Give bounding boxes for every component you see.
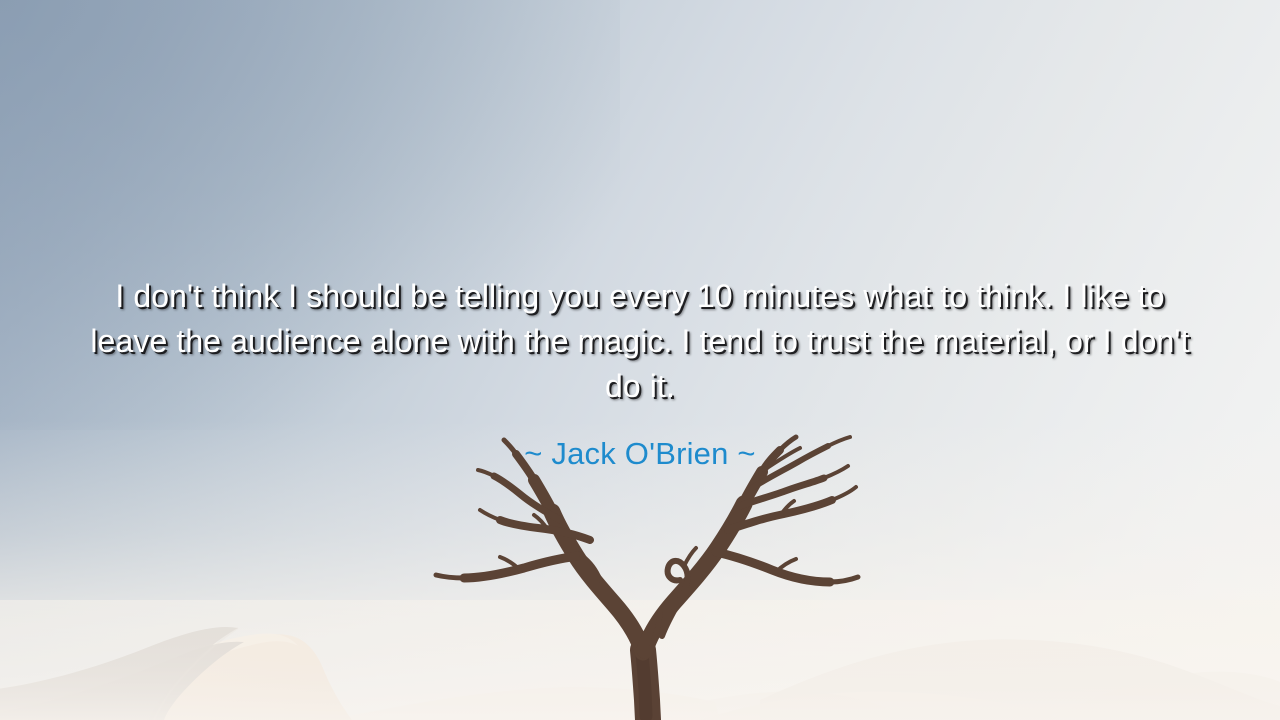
quote-image-canvas: I don't think I should be telling you ev… <box>0 0 1280 720</box>
tree-branch-center-curl-tip <box>684 548 696 566</box>
author-container: ~ Jack O'Brien ~ <box>0 434 1280 474</box>
tree-branch-left-mid-tip <box>480 510 500 520</box>
quote-container: I don't think I should be telling you ev… <box>0 274 1280 409</box>
tree-trunk-shade <box>642 654 646 716</box>
tree-branches <box>436 437 858 720</box>
tree-branch-right-mid-tip <box>832 487 856 500</box>
tree-branch-right-lower-tip <box>830 577 858 582</box>
tree-branch-right-lower <box>716 552 830 582</box>
tree-branch-left-lower-tip <box>436 575 464 578</box>
author-attribution: ~ Jack O'Brien ~ <box>0 434 1280 474</box>
tree-twig-right-a <box>776 559 796 572</box>
quote-text: I don't think I should be telling you ev… <box>85 274 1195 409</box>
tree-branch-left-lower <box>464 556 578 578</box>
